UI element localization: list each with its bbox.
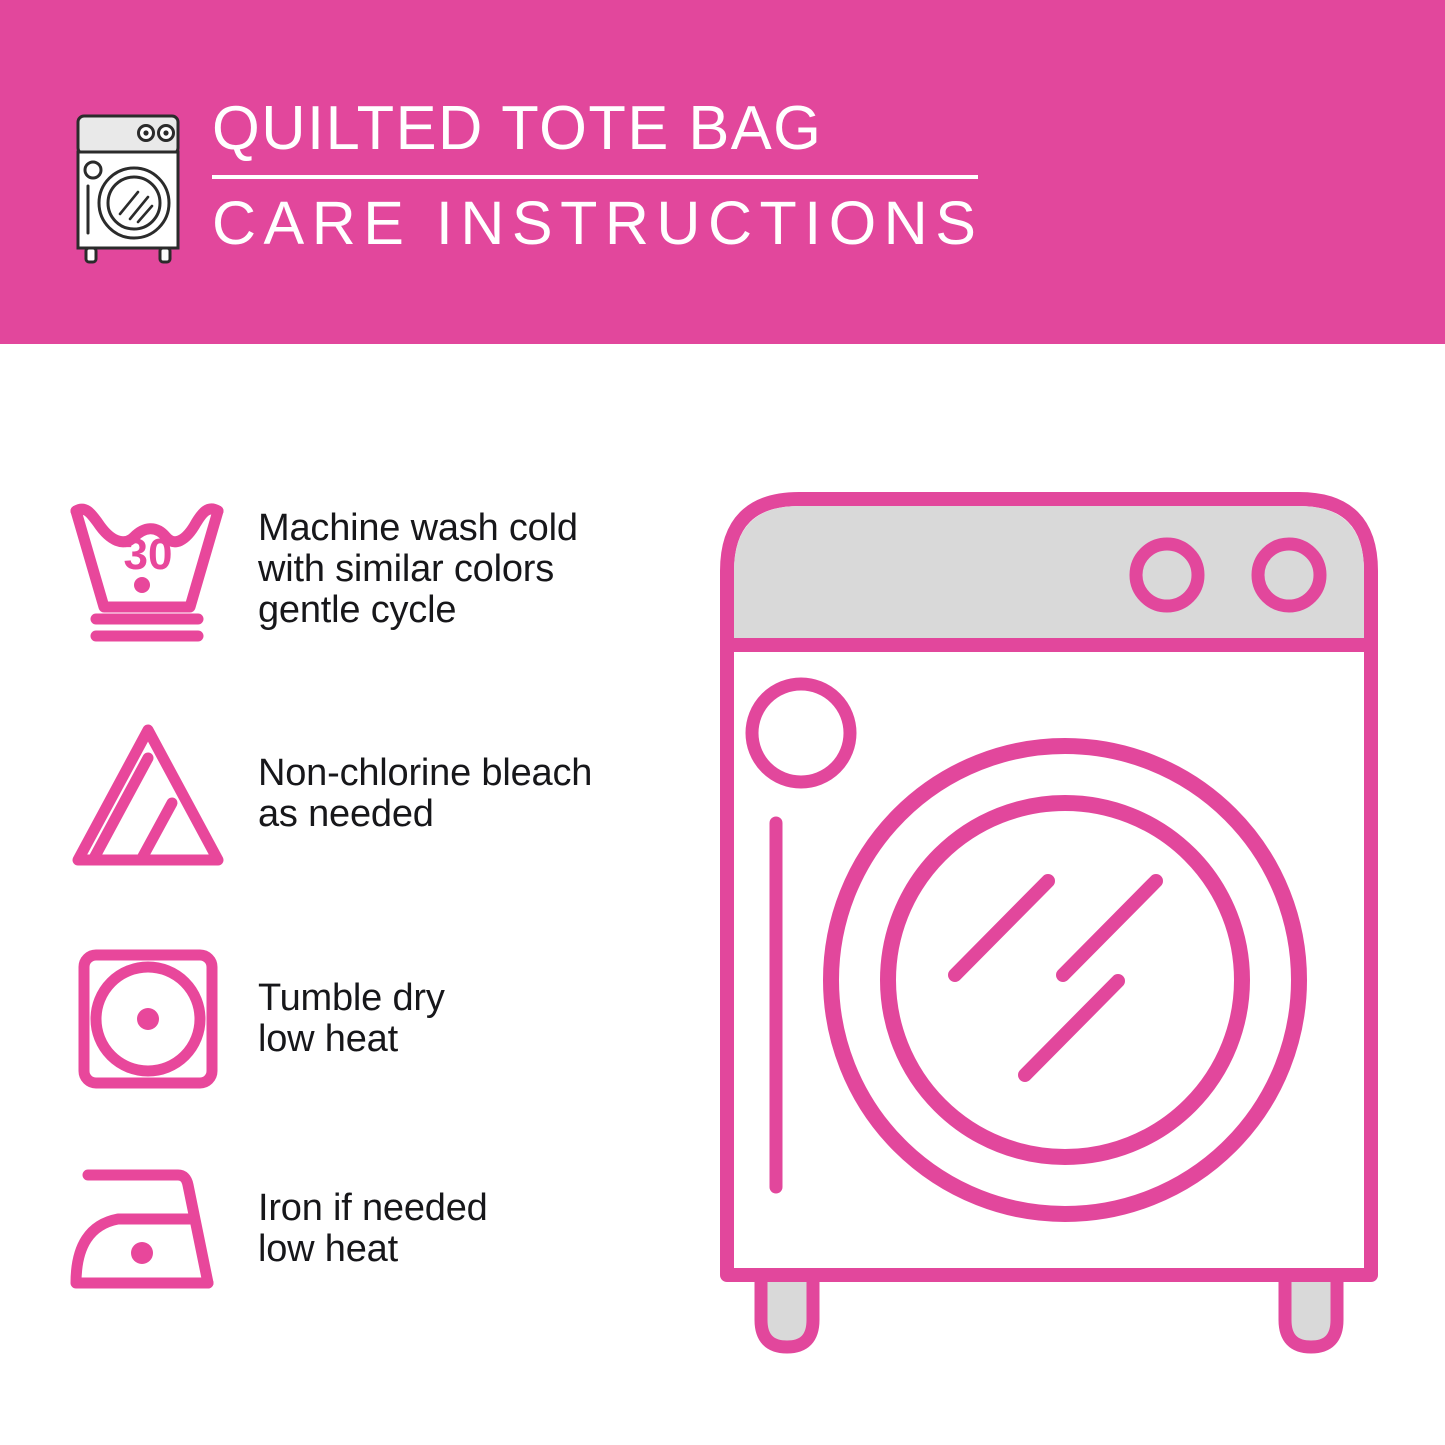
list-item-label: Tumble dry low heat xyxy=(258,978,445,1060)
non-chlorine-bleach-triangle-icon xyxy=(62,714,234,874)
list-item-label: Iron if needed low heat xyxy=(258,1188,488,1270)
washing-machine-icon xyxy=(62,102,194,264)
list-item: Iron if needed low heat xyxy=(62,1149,682,1309)
page-title: CARE INSTRUCTIONS xyxy=(212,191,983,255)
tumble-dry-low-icon xyxy=(62,939,234,1099)
list-item-label: Machine wash cold with similar colors ge… xyxy=(258,508,578,631)
wash-temperature-value: 30 xyxy=(124,530,173,579)
header-banner: QUILTED TOTE BAG CARE INSTRUCTIONS xyxy=(0,0,1445,344)
header-content: QUILTED TOTE BAG CARE INSTRUCTIONS xyxy=(62,96,983,264)
header-title-block: QUILTED TOTE BAG CARE INSTRUCTIONS xyxy=(212,96,983,255)
list-item: Non-chlorine bleach as needed xyxy=(62,714,682,874)
title-divider xyxy=(212,175,978,179)
list-item: Tumble dry low heat xyxy=(62,939,682,1099)
front-load-washing-machine-illustration xyxy=(715,475,1415,1375)
iron-low-heat-icon xyxy=(62,1149,234,1309)
machine-wash-30-icon: 30 xyxy=(62,489,234,649)
list-item-label: Non-chlorine bleach as needed xyxy=(258,753,592,835)
care-instruction-list: 30 Machine wash cold with similar colors… xyxy=(0,344,700,1445)
product-title: QUILTED TOTE BAG xyxy=(212,96,976,162)
list-item: 30 Machine wash cold with similar colors… xyxy=(62,489,682,649)
